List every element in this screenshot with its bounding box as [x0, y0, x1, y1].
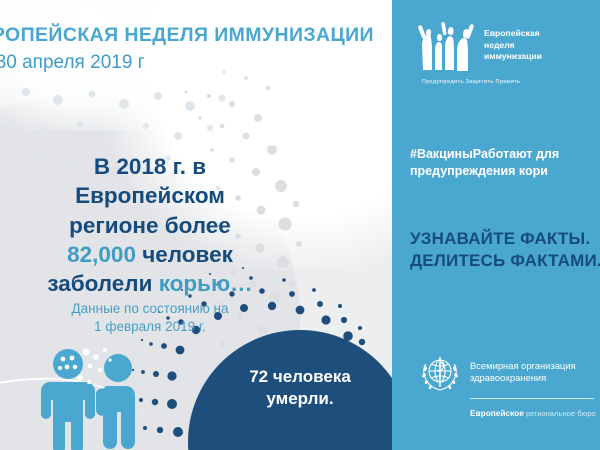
headline-line-2: Европейском [0, 181, 300, 210]
eiw-line-1: Европейская [484, 28, 542, 40]
page-title: ЕВРОПЕЙСКАЯ НЕДЕЛЯ ИММУНИЗАЦИИ [0, 24, 392, 46]
right-panel: Европейская неделя иммунизации Предупред… [392, 0, 600, 450]
cases-count: 82,000 [67, 242, 136, 267]
deaths-line-1: 72 человека [188, 366, 392, 388]
headline-line-5: заболели корью… [0, 269, 300, 298]
headline-verb: заболели [47, 271, 158, 296]
headline-line-4: 82,000 человек [0, 240, 300, 269]
eiw-line-2: неделя [484, 40, 542, 52]
who-divider [470, 398, 594, 399]
poster-header: ЕВРОПЕЙСКАЯ НЕДЕЛЯ ИММУНИЗАЦИИ 24–30 апр… [0, 24, 392, 74]
data-source-note: Данные по состоянию на 1 февраля 2019 г. [0, 300, 300, 336]
who-logo-text: Всемирная организация здравоохранения [470, 360, 576, 384]
who-line-1: Всемирная организация [470, 360, 576, 372]
cases-count-unit: человек [136, 242, 233, 267]
who-regional-office: Европейское региональное бюро [470, 403, 600, 421]
eiw-line-3: иммунизации [484, 51, 542, 63]
headline-block: В 2018 г. в Европейском регионе более 82… [0, 152, 300, 298]
call-to-action: УЗНАВАЙТЕ ФАКТЫ. ДЕЛИТЕСЬ ФАКТАМИ. [410, 228, 600, 273]
eiw-logo: Европейская неделя иммунизации Предупред… [418, 22, 598, 85]
measles-people-icon [10, 346, 160, 450]
who-logo: Всемирная организация здравоохранения Ев… [418, 350, 600, 421]
who-region-light: региональное бюро [524, 409, 596, 418]
who-region-bold: Европейское [470, 408, 524, 418]
note-line-1: Данные по состоянию на [0, 300, 300, 318]
raised-hands-crowd-icon [418, 22, 476, 72]
headline-line-1: В 2018 г. в [0, 152, 300, 181]
campaign-hashtag: #ВакциныРаботают для предупреждения кори [410, 146, 600, 179]
eiw-tagline: Предупредить Защитить Привить [422, 79, 598, 85]
cta-line-1: УЗНАВАЙТЕ ФАКТЫ. [410, 228, 600, 250]
event-date: 24–30 апреля 2019 г [0, 52, 392, 74]
who-emblem-icon [418, 350, 462, 394]
hashtag-line-1: #ВакциныРаботают для [410, 146, 600, 163]
left-panel: ЕВРОПЕЙСКАЯ НЕДЕЛЯ ИММУНИЗАЦИИ 24–30 апр… [0, 0, 392, 450]
deaths-text: 72 человека умерли. [188, 366, 392, 410]
headline-line-3: регионе более [0, 211, 300, 240]
cta-line-2: ДЕЛИТЕСЬ ФАКТАМИ. [410, 250, 600, 272]
eiw-logo-text: Европейская неделя иммунизации [484, 28, 542, 63]
infographic-poster: ЕВРОПЕЙСКАЯ НЕДЕЛЯ ИММУНИЗАЦИИ 24–30 апр… [0, 0, 600, 450]
who-line-2: здравоохранения [470, 372, 576, 384]
disease-name: корью… [159, 271, 253, 296]
deaths-line-2: умерли. [188, 388, 392, 410]
note-line-2: 1 февраля 2019 г. [0, 318, 300, 336]
hashtag-line-2: предупреждения кори [410, 163, 600, 180]
